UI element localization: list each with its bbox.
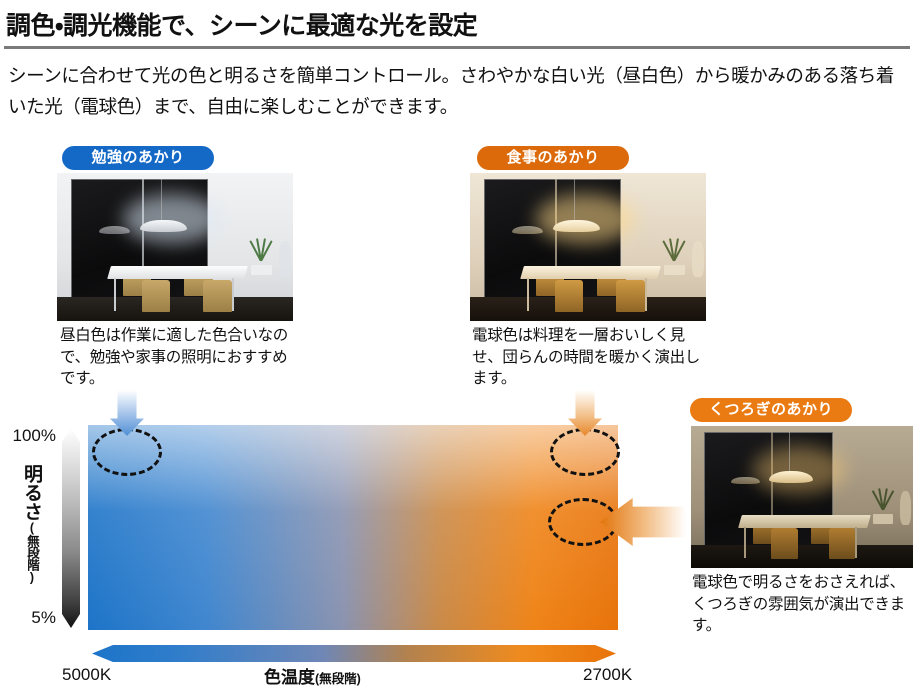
- photo-table-leg: [527, 278, 529, 311]
- photo-lamp-glow: [123, 194, 222, 244]
- photo-chair: [829, 528, 856, 559]
- intro-paragraph: シーンに合わせて光の色と明るさを簡単コントロール。さわやかな白い光（昼白色）から…: [8, 60, 908, 122]
- photo-dining-scene: [470, 173, 706, 321]
- badge-relax-light: くつろぎのあかり: [690, 398, 852, 422]
- photo-table: [520, 266, 661, 279]
- photo-pendant-lamp: [140, 220, 187, 232]
- brightness-axis-min-tick: 5%: [12, 608, 56, 628]
- photo-lamp-cord: [161, 179, 162, 223]
- brightness-axis-label-sub: (無段階): [20, 521, 43, 584]
- photo-table-leg: [744, 527, 746, 558]
- caption-study-light: 昼白色は作業に適した色合いなので、勉強や家事の照明におすすめです。: [60, 325, 292, 390]
- photo-table-leg: [855, 527, 857, 558]
- title-divider: [4, 46, 910, 49]
- caption-dining-light: 電球色は料理を一層おいしく見せ、団らんの時間を暖かく演出します。: [472, 325, 704, 390]
- brightness-axis-label: 明るさ (無段階): [20, 464, 46, 584]
- color-brightness-gradient-plot: [88, 425, 618, 630]
- photo-study-scene: [57, 173, 293, 321]
- photo-table-leg: [114, 278, 116, 311]
- brightness-axis-arrow-icon: [62, 428, 80, 628]
- brightness-axis-max-tick: 100%: [0, 426, 56, 446]
- photo-floor: [57, 297, 293, 321]
- photo-table: [107, 266, 248, 279]
- photo-floor: [691, 545, 913, 568]
- photo-pendant-lamp: [769, 471, 813, 482]
- color-temperature-axis-label-main: 色温度: [264, 668, 315, 687]
- photo-vase: [279, 241, 291, 277]
- color-temperature-axis-left-tick: 5000K: [62, 665, 111, 685]
- photo-plant-pot: [664, 265, 685, 275]
- photo-vase: [900, 491, 911, 525]
- photo-table-leg: [232, 278, 234, 311]
- photo-floor: [470, 297, 706, 321]
- color-temperature-axis-label-sub: (無段階): [315, 672, 361, 686]
- photo-chair: [142, 280, 170, 313]
- photo-chair: [616, 280, 644, 313]
- color-temperature-axis-arrow-icon: [92, 645, 616, 662]
- color-temperature-axis-right-tick: 2700K: [583, 665, 632, 685]
- photo-pendant-lamp-reflection: [512, 226, 543, 233]
- photo-chair: [203, 280, 231, 313]
- color-temperature-axis-label: 色温度(無段階): [264, 663, 361, 688]
- brightness-axis-label-main: 明るさ: [20, 464, 43, 521]
- photo-lamp-glow: [753, 446, 846, 494]
- photo-plant-pot: [873, 514, 893, 524]
- photo-pendant-lamp: [553, 220, 600, 232]
- photo-lamp-cord: [789, 432, 790, 475]
- photo-vase: [692, 241, 704, 277]
- photo-plant: [659, 238, 687, 268]
- photo-table: [738, 515, 870, 528]
- badge-dining-light: 食事のあかり: [477, 146, 629, 170]
- photo-relax-scene: [691, 426, 913, 568]
- caption-relax-light: 電球色で明るさをおさえれば、くつろぎの雰囲気が演出できます。: [692, 572, 910, 637]
- photo-pendant-lamp-reflection: [731, 477, 760, 484]
- photo-pendant-lamp-reflection: [99, 226, 130, 233]
- photo-table-leg: [645, 278, 647, 311]
- photo-plant: [246, 238, 274, 268]
- photo-lamp-glow: [536, 194, 635, 244]
- photo-plant: [869, 488, 896, 516]
- photo-chair: [771, 528, 798, 559]
- photo-lamp-cord: [574, 179, 575, 223]
- page-title: 調色・調光機能で、シーンに最適な光を設定: [6, 6, 477, 42]
- badge-study-light: 勉強のあかり: [62, 146, 214, 170]
- photo-plant-pot: [251, 265, 272, 275]
- photo-chair: [555, 280, 583, 313]
